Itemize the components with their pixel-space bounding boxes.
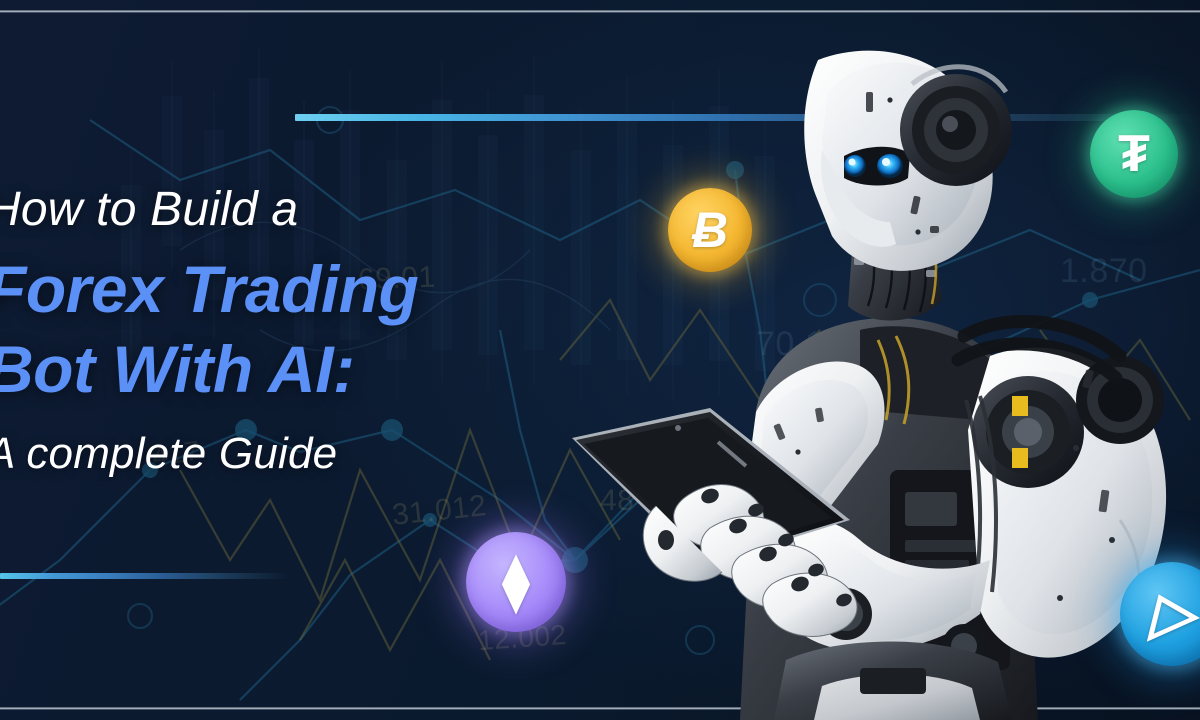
tether-coin: ₮	[1090, 110, 1178, 198]
headline-line-2: Bot With AI:	[0, 336, 586, 402]
ton-icon: ▷	[1150, 585, 1195, 643]
accent-bar-bottom	[0, 573, 290, 579]
hero-headline-block: How to Build a Forex Trading Bot With AI…	[0, 186, 586, 476]
bitcoin-icon: Ƀ	[692, 205, 728, 255]
ai-robot-illustration	[560, 0, 1200, 720]
headline-subline: A complete Guide	[0, 432, 586, 476]
tether-icon: ₮	[1118, 128, 1150, 180]
hero-banner: 69.01 70.111 1.870 31.012 12.002 48 417	[0, 0, 1200, 720]
ethereum-coin: ⧫	[466, 532, 566, 632]
bitcoin-coin: Ƀ	[668, 188, 752, 272]
ethereum-icon: ⧫	[503, 555, 530, 609]
headline-line-1: Forex Trading	[0, 256, 586, 322]
headline-kicker: How to Build a	[0, 186, 586, 234]
bg-number: 31.012	[390, 489, 488, 533]
